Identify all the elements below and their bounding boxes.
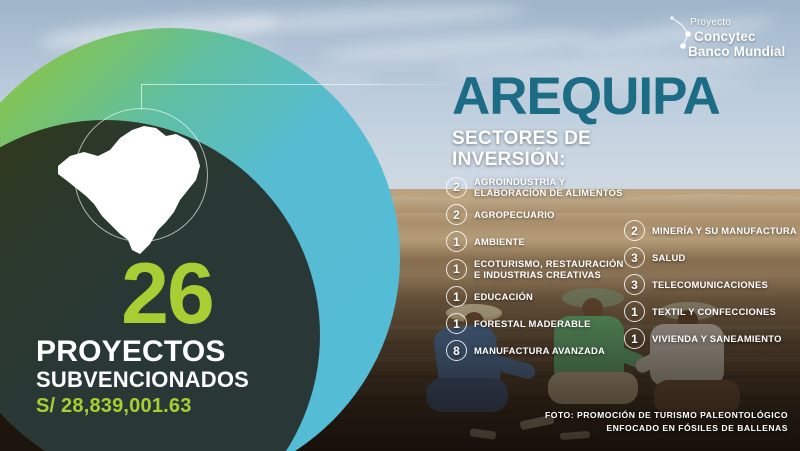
photo-caption: FOTO: PROMOCIÓN DE TURISMO PALEONTOLÓGIC… [545,409,788,435]
sector-item: 1 FORESTAL MADERABLE [446,313,626,334]
sector-label: TELECOMUNICACIONES [652,279,768,290]
sector-count-badge: 1 [446,286,467,307]
sector-count-badge: 1 [446,231,467,252]
funding-amount: S/ 28,839,001.63 [36,395,316,418]
sector-item: 3 TELECOMUNICACIONES [624,274,800,295]
sector-item: 1 TEXTIL Y CONFECCIONES [624,301,800,322]
sector-count-badge: 1 [446,313,467,334]
logo-line-proyecto: Proyecto [690,17,731,28]
sector-label: EDUCACIÓN [474,291,533,302]
sector-item: 1 AMBIENTE [446,231,626,252]
section-subtitle: SECTORES DE INVERSIÓN: [452,128,591,171]
logo-line-concytec: Concytec [694,29,756,44]
sector-item: 2 AGROINDUSTRIA Y ELABORACIÓN DE ALIMENT… [446,176,626,198]
sector-label: AMBIENTE [474,236,525,247]
sector-label: MINERÍA Y SU MANUFACTURA [652,225,797,236]
caption-line-2: ENFOCADO EN FÓSILES DE BALLENAS [545,422,788,435]
sector-count-badge: 3 [624,247,645,268]
projects-label-secondary: SUBVENCIONADOS [36,368,316,392]
projects-stat-block: 26 PROYECTOS SUBVENCIONADOS S/ 28,839,00… [36,256,316,418]
page-title: AREQUIPA [452,70,720,123]
subtitle-line-2: INVERSIÓN: [452,149,591,170]
sector-label: AGROPECUARIO [474,209,555,220]
sector-label: FORESTAL MADERABLE [474,318,591,329]
sector-item: 2 AGROPECUARIO [446,204,626,225]
sector-label: ECOTURISMO, RESTAURACIÓN E INDUSTRIAS CR… [474,258,626,280]
sector-count-badge: 1 [446,259,467,280]
callout-leader-line [141,84,456,85]
sector-label: VIVIENDA Y SANEAMIENTO [652,333,782,344]
sector-item: 2 MINERÍA Y SU MANUFACTURA [624,220,800,241]
infographic-poster: 26 PROYECTOS SUBVENCIONADOS S/ 28,839,00… [0,0,800,451]
sector-item: 1 ECOTURISMO, RESTAURACIÓN E INDUSTRIAS … [446,258,626,280]
sector-count-badge: 2 [446,177,467,198]
subtitle-line-1: SECTORES DE [452,128,591,149]
sector-list-right: 2 MINERÍA Y SU MANUFACTURA 3 SALUD 3 TEL… [624,220,800,355]
project-logo: Proyecto Concytec Banco Mundial [668,16,800,60]
sector-count-badge: 1 [624,328,645,349]
region-silhouette-icon [40,104,240,264]
sector-list-left: 2 AGROINDUSTRIA Y ELABORACIÓN DE ALIMENT… [446,176,626,367]
sector-count-badge: 2 [446,204,467,225]
sector-label: TEXTIL Y CONFECCIONES [652,306,776,317]
sector-count-badge: 1 [624,301,645,322]
sector-item: 1 VIVIENDA Y SANEAMIENTO [624,328,800,349]
sector-label: AGROINDUSTRIA Y ELABORACIÓN DE ALIMENTOS [474,176,626,198]
sector-count-badge: 3 [624,274,645,295]
sector-label: MANUFACTURA AVANZADA [474,345,605,356]
sector-count-badge: 2 [624,220,645,241]
projects-count: 26 [36,256,316,333]
sector-item: 3 SALUD [624,247,800,268]
projects-label-primary: PROYECTOS [36,337,316,368]
caption-line-1: FOTO: PROMOCIÓN DE TURISMO PALEONTOLÓGIC… [545,409,788,422]
sector-label: SALUD [652,252,686,263]
sector-count-badge: 8 [446,340,467,361]
sector-item: 8 MANUFACTURA AVANZADA [446,340,626,361]
cloud-shape [224,1,525,37]
logo-line-banco-mundial: Banco Mundial [688,44,785,59]
sector-item: 1 EDUCACIÓN [446,286,626,307]
